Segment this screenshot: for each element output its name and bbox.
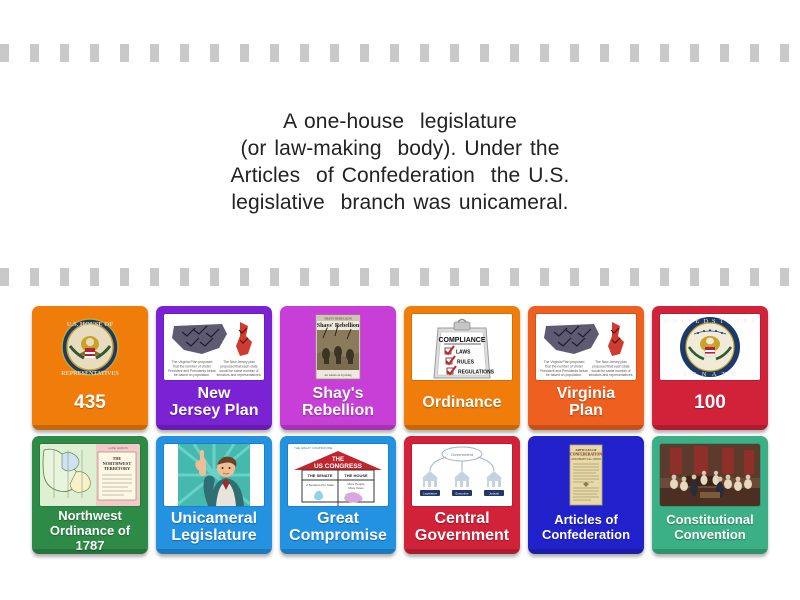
parchment-document-icon: ARTICLES OF CONFEDERATION AND PERPETUAL … [536,444,636,506]
svg-text:senators and representatives.: senators and representatives. [217,373,262,377]
svg-text:REPRESENTATIVES: REPRESENTATIVES [61,371,119,377]
divider-bottom [0,268,800,286]
answer-card-label: 435 [72,380,108,426]
us-senate-seal-icon: U N I T E D S T A T E S S E N A T E [660,314,760,380]
svg-text:proposed that each state: proposed that each state [220,365,257,369]
answer-card-label: Central Government [413,506,511,550]
svg-text:COMPLIANCE: COMPLIANCE [438,337,485,344]
svg-text:proposed that each state: proposed that each state [592,365,629,369]
answer-card-label: Constitutional Convention [664,506,755,550]
svg-text:THE GREAT COMPROMISE: THE GREAT COMPROMISE [294,446,333,450]
svg-text:that the number of Under: that the number of Under [173,365,212,369]
activity-canvas: A one-house legislature (or law-making b… [0,0,800,600]
us-house-seal-icon: U.S. HOUSE OF REPRESENTATIVES [40,314,140,380]
svg-text:More Votes: More Votes [348,486,364,490]
us-congress-house-diagram-image: THE GREAT COMPROMISE THE US CONGRESS THE… [288,444,388,506]
svg-text:Shays' Rebellion: Shays' Rebellion [317,323,360,329]
svg-text:RULES: RULES [457,360,475,366]
svg-text:THE HOUSE: THE HOUSE [344,473,368,478]
svg-text:senators and representatives.: senators and representatives. [589,373,634,377]
svg-text:CONFEDERATION: CONFEDERATION [570,453,602,457]
svg-text:An American Uprising: An American Uprising [324,373,352,377]
svg-text:AND PERPETUAL UNION: AND PERPETUAL UNION [571,458,601,461]
territory-map-icon: THE NORTHWEST TERRITORY LAKE HURON [40,444,140,506]
man-raising-one-finger-image [164,444,264,506]
svg-text:Legislative: Legislative [423,491,438,495]
svg-text:TERRITORY: TERRITORY [104,466,131,471]
svg-text:The New Jersey plan: The New Jersey plan [223,360,255,364]
svg-text:ARTICLES OF: ARTICLES OF [575,448,596,452]
svg-text:U N I T E D S T A T E S: U N I T E D S T A T E S [664,318,756,325]
answer-card-articles-of-confederation[interactable]: ARTICLES OF CONFEDERATION AND PERPETUAL … [528,436,644,554]
shays-rebellion-book-cover-image: SHAYS' REBELLION Shays' Rebellion An Ame… [288,314,388,380]
svg-text:US CONGRESS: US CONGRESS [314,463,363,470]
prompt-line-2: (or law-making body). Under the [100,135,700,162]
convention-painting-icon [660,444,760,506]
answer-card-label: Northwest Ordinance of 1787 [36,506,144,554]
svg-text:The Virginia Plan proposed: The Virginia Plan proposed [544,360,585,364]
compliance-clipboard-image: COMPLIANCE LAWS RULES [412,314,512,380]
virginia-new-jersey-plan-comparison-image: The Virginia Plan proposed that the numb… [164,314,264,380]
virginia-new-jersey-plan-comparison-image: The Virginia Plan proposed that the numb… [536,314,636,380]
svg-text:The New Jersey plan: The New Jersey plan [595,360,627,364]
book-cover-icon: SHAYS' REBELLION Shays' Rebellion An Ame… [288,314,388,380]
us-senate-seal-image: U N I T E D S T A T E S S E N A T E [660,314,760,380]
divider-top [0,44,800,62]
svg-text:LAKE HURON: LAKE HURON [108,446,128,450]
articles-of-confederation-document-image: ARTICLES OF CONFEDERATION AND PERPETUAL … [536,444,636,506]
svg-text:be based on population.: be based on population. [546,373,582,377]
svg-text:THE SENATE: THE SENATE [307,473,332,478]
answer-card-label: Shay's Rebellion [300,380,376,426]
answer-card-great-compromise[interactable]: THE GREAT COMPROMISE THE US CONGRESS THE… [280,436,396,554]
state-shapes-comparison-icon: The Virginia Plan proposed that the numb… [164,314,264,380]
answer-card-label: Great Compromise [287,506,389,550]
answer-card-shays-rebellion[interactable]: SHAYS' REBELLION Shays' Rebellion An Ame… [280,306,396,430]
answer-card-central-government[interactable]: Government [404,436,520,554]
answer-card-label: Ordinance [420,380,503,426]
government-structure-chart-image: Government [412,444,512,506]
answer-card-label: Articles of Confederation [540,506,632,550]
svg-text:be based on population.: be based on population. [174,373,210,377]
answer-card-new-jersey-plan[interactable]: The Virginia Plan proposed that the numb… [156,306,272,430]
answer-card-constitutional-convention[interactable]: Constitutional Convention [652,436,768,554]
one-finger-man-icon [164,444,264,506]
svg-text:2 Senators Per State: 2 Senators Per State [306,483,334,487]
svg-text:S E N A T E: S E N A T E [683,371,737,378]
northwest-territory-map-image: THE NORTHWEST TERRITORY LAKE HURON [40,444,140,506]
answer-card-label: Unicameral Legislature [169,506,259,550]
answer-card-435[interactable]: U.S. HOUSE OF REPRESENTATIVES 435 [32,306,148,430]
state-shapes-comparison-icon: The Virginia Plan proposed that the numb… [536,314,636,380]
svg-text:REGULATIONS: REGULATIONS [458,370,495,376]
answer-card-label: 100 [692,380,728,426]
answer-card-northwest-ordinance[interactable]: THE NORTHWEST TERRITORY LAKE HURON North… [32,436,148,554]
prompt-line-3: Articles of Confederation the U.S. [100,162,700,189]
prompt-line-1: A one-house legislature [100,108,700,135]
clipboard-checklist-icon: COMPLIANCE LAWS RULES [412,314,512,380]
us-house-seal-image: U.S. HOUSE OF REPRESENTATIVES [40,314,140,380]
svg-text:LAWS: LAWS [456,350,471,356]
answer-card-100[interactable]: U N I T E D S T A T E S S E N A T E 100 [652,306,768,430]
answer-card-grid: U.S. HOUSE OF REPRESENTATIVES 435 [32,306,772,554]
svg-text:that the number of Under: that the number of Under [545,365,584,369]
svg-text:The Virginia Plan proposed: The Virginia Plan proposed [172,360,213,364]
government-structure-icon: Government [412,444,512,506]
prompt-line-4: legislative branch was unicameral. [100,189,700,216]
answer-card-virginia-plan[interactable]: The Virginia Plan proposed that the numb… [528,306,644,430]
answer-card-label: New Jersey Plan [168,380,261,426]
prompt-text: A one-house legislature (or law-making b… [100,108,700,216]
svg-text:U.S. HOUSE OF: U.S. HOUSE OF [67,321,114,328]
svg-text:Executive: Executive [455,491,468,495]
svg-text:SHAYS' REBELLION: SHAYS' REBELLION [324,317,352,321]
congress-house-diagram-icon: THE GREAT COMPROMISE THE US CONGRESS THE… [288,444,388,506]
answer-card-unicameral-legislature[interactable]: Unicameral Legislature [156,436,272,554]
svg-text:Government: Government [451,452,474,457]
svg-text:Judicial: Judicial [489,491,499,495]
answer-card-label: Virginia Plan [555,380,617,426]
constitutional-convention-painting-image [660,444,760,506]
answer-card-ordinance[interactable]: COMPLIANCE LAWS RULES [404,306,520,430]
